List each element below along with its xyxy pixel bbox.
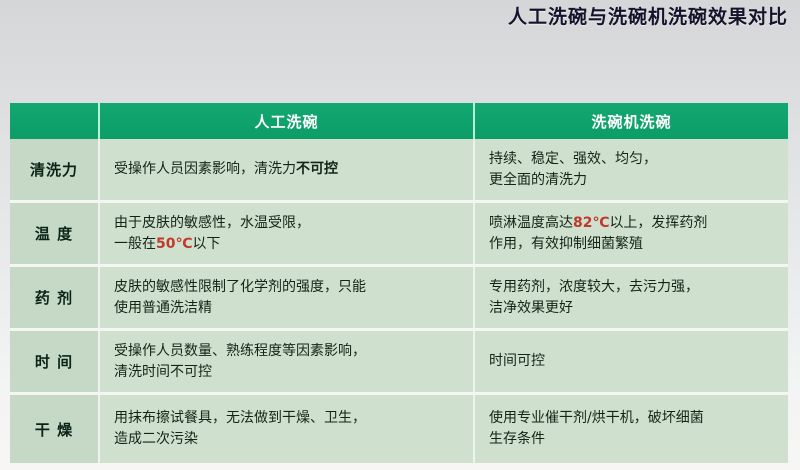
table-row: 清洗力 受操作人员因素影响，清洗力不可控 持续、稳定、强效、均匀， 更全面的清洗… — [10, 139, 788, 203]
cell-manual: 受操作人员因素影响，清洗力不可控 — [98, 139, 473, 200]
page-title: 人工洗碗与洗碗机洗碗效果对比 — [508, 3, 788, 31]
title-band: 人工洗碗与洗碗机洗碗效果对比 — [0, 0, 800, 34]
cell-machine-text-post: 以上，发挥药剂 — [609, 215, 707, 231]
cell-manual: 受操作人员数量、熟练程度等因素影响， 清洗时间不可控 — [98, 331, 473, 392]
cell-manual-line: 用抹布擦试餐具，无法做到干燥、卫生， — [114, 408, 366, 429]
cell-manual: 由于皮肤的敏感性，水温受限， 一般在50℃以下 — [98, 203, 473, 264]
cell-manual-line: 清洗时间不可控 — [114, 362, 366, 383]
comparison-table: 人工洗碗 洗碗机洗碗 清洗力 受操作人员因素影响，清洗力不可控 持续、稳定、强效… — [10, 103, 788, 470]
cell-machine-line: 洁净效果更好 — [489, 298, 699, 319]
table-header-row: 人工洗碗 洗碗机洗碗 — [10, 103, 788, 139]
table-row: 药 剂 皮肤的敏感性限制了化学剂的强度，只能 使用普通洗洁精 专用药剂，浓度较大… — [10, 267, 788, 331]
cell-manual-line: 受操作人员因素影响，清洗力不可控 — [114, 159, 338, 180]
table-header-machine: 洗碗机洗碗 — [473, 103, 788, 139]
cell-manual-line: 一般在50℃以下 — [114, 234, 310, 255]
temperature-value: 50℃ — [156, 236, 192, 252]
temperature-value: 82℃ — [573, 215, 609, 231]
cell-machine: 持续、稳定、强效、均匀， 更全面的清洗力 — [473, 139, 788, 200]
cell-machine-line: 更全面的清洗力 — [489, 170, 657, 191]
cell-manual-text: 受操作人员因素影响，清洗力 — [114, 161, 296, 177]
cell-machine-line: 生存条件 — [489, 429, 704, 450]
cell-manual-line: 使用普通洗洁精 — [114, 298, 366, 319]
cell-manual-line: 受操作人员数量、熟练程度等因素影响， — [114, 341, 366, 362]
cell-manual: 皮肤的敏感性限制了化学剂的强度，只能 使用普通洗洁精 — [98, 267, 473, 328]
table-header-category — [10, 103, 98, 139]
cell-manual: 用抹布擦试餐具，无法做到干燥、卫生， 造成二次污染 — [98, 395, 473, 463]
cell-machine: 喷淋温度高达82℃以上，发挥药剂 作用，有效抑制细菌繁殖 — [473, 203, 788, 264]
row-label: 时 间 — [10, 331, 98, 392]
table-row: 干 燥 用抹布擦试餐具，无法做到干燥、卫生， 造成二次污染 使用专业催干剂/烘干… — [10, 395, 788, 463]
row-label: 干 燥 — [10, 395, 98, 463]
cell-manual-text-pre: 一般在 — [114, 236, 156, 252]
cell-manual-line: 造成二次污染 — [114, 429, 366, 450]
cell-machine: 专用药剂，浓度较大，去污力强， 洁净效果更好 — [473, 267, 788, 328]
table-row: 时 间 受操作人员数量、熟练程度等因素影响， 清洗时间不可控 时间可控 — [10, 331, 788, 395]
cell-machine: 时间可控 — [473, 331, 788, 392]
table-header-manual: 人工洗碗 — [98, 103, 473, 139]
cell-machine-line: 使用专业催干剂/烘干机，破坏细菌 — [489, 408, 704, 429]
cell-machine-line: 作用，有效抑制细菌繁殖 — [489, 234, 707, 255]
cell-machine-line: 专用药剂，浓度较大，去污力强， — [489, 277, 699, 298]
row-label: 温 度 — [10, 203, 98, 264]
table-row: 温 度 由于皮肤的敏感性，水温受限， 一般在50℃以下 喷淋温度高达82℃以上，… — [10, 203, 788, 267]
cell-manual-line: 皮肤的敏感性限制了化学剂的强度，只能 — [114, 277, 366, 298]
row-label: 清洗力 — [10, 139, 98, 200]
cell-machine-line: 持续、稳定、强效、均匀， — [489, 149, 657, 170]
cell-machine-line: 喷淋温度高达82℃以上，发挥药剂 — [489, 213, 707, 234]
cell-machine-line: 时间可控 — [489, 351, 545, 372]
cell-manual-line: 由于皮肤的敏感性，水温受限， — [114, 213, 310, 234]
row-label: 药 剂 — [10, 267, 98, 328]
slide-page: 人工洗碗与洗碗机洗碗效果对比 人工洗碗 洗碗机洗碗 清洗力 受操作人员因素影响，… — [0, 0, 800, 470]
cell-manual-emphasis: 不可控 — [296, 161, 338, 177]
cell-machine-text-pre: 喷淋温度高达 — [489, 215, 573, 231]
cell-machine: 使用专业催干剂/烘干机，破坏细菌 生存条件 — [473, 395, 788, 463]
cell-manual-text-post: 以下 — [192, 236, 220, 252]
